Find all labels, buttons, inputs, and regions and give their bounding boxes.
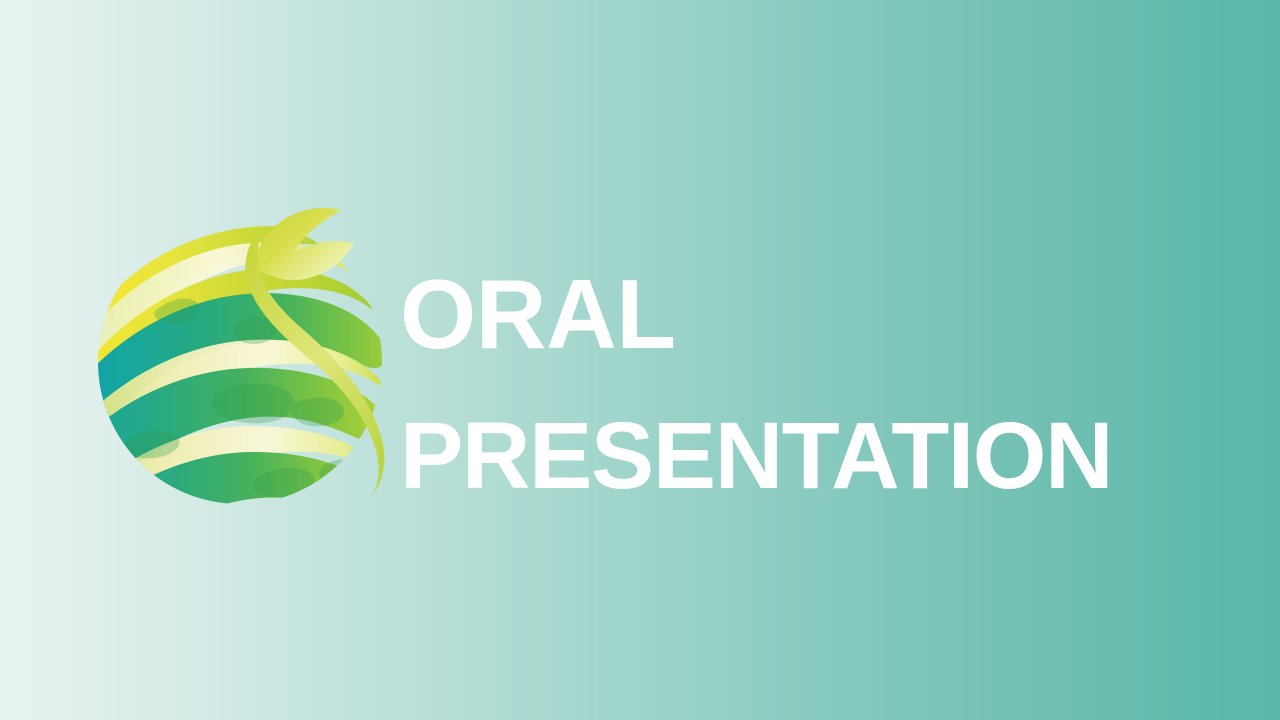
presentation-slide: ORAL PRESENTATION	[0, 0, 1280, 720]
title-line-oral: ORAL	[400, 243, 1220, 385]
globe-ribbon-leaf-logo	[92, 200, 392, 518]
title-line-presentation: PRESENTATION	[400, 385, 1220, 527]
slide-title-block: ORAL PRESENTATION	[400, 243, 1220, 527]
